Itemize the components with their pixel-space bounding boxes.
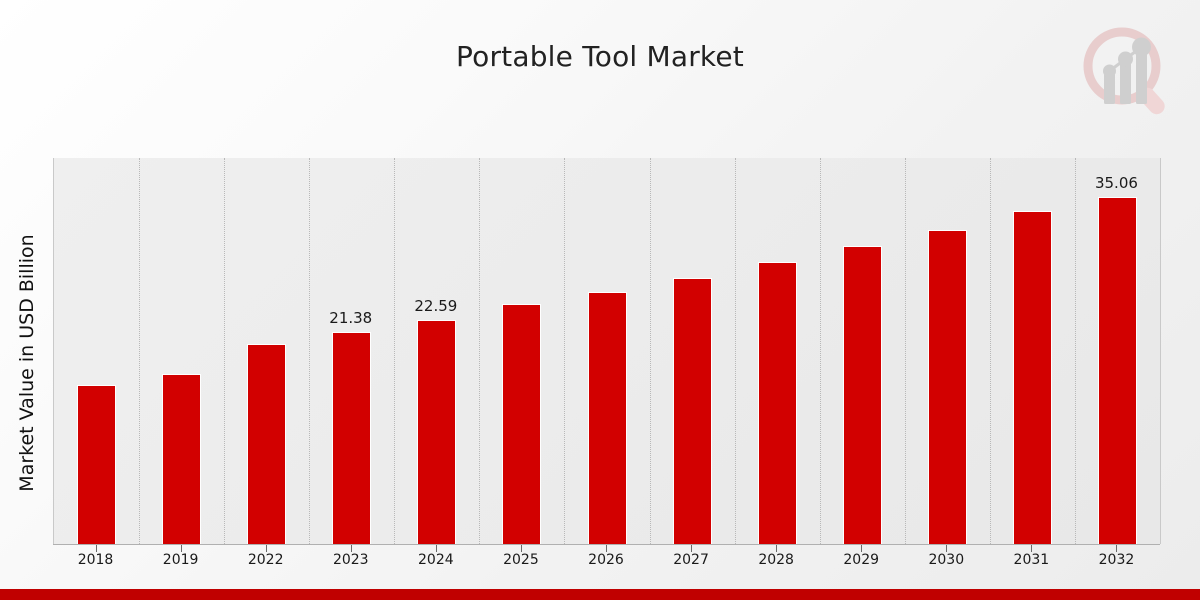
bar-2025[interactable] bbox=[502, 304, 541, 544]
x-tick-mark-2030 bbox=[946, 545, 947, 552]
x-tick-mark-2022 bbox=[266, 545, 267, 552]
bar-2022[interactable] bbox=[247, 344, 286, 544]
x-tick-mark-2027 bbox=[691, 545, 692, 552]
gridline bbox=[564, 158, 565, 544]
x-tick-label-2018: 2018 bbox=[56, 552, 136, 568]
bar-2030[interactable] bbox=[928, 230, 967, 544]
bar-2024[interactable] bbox=[417, 320, 456, 544]
x-tick-label-2026: 2026 bbox=[566, 552, 646, 568]
x-tick-mark-2018 bbox=[96, 545, 97, 552]
bar-2028[interactable] bbox=[758, 262, 797, 544]
magnifier-bar-chart-logo bbox=[1072, 22, 1180, 122]
gridline bbox=[394, 158, 395, 544]
bar-2018[interactable] bbox=[77, 385, 116, 544]
x-tick-label-2032: 2032 bbox=[1076, 552, 1156, 568]
bar-2029[interactable] bbox=[843, 246, 882, 544]
x-tick-mark-2029 bbox=[861, 545, 862, 552]
bar-2023[interactable] bbox=[332, 332, 371, 544]
bar-2031[interactable] bbox=[1013, 211, 1052, 544]
x-tick-label-2024: 2024 bbox=[396, 552, 476, 568]
x-tick-label-2027: 2027 bbox=[651, 552, 731, 568]
x-tick-mark-2019 bbox=[181, 545, 182, 552]
bar-value-label-2023: 21.38 bbox=[311, 309, 391, 327]
x-tick-mark-2026 bbox=[606, 545, 607, 552]
x-tick-label-2022: 2022 bbox=[226, 552, 306, 568]
gridline bbox=[309, 158, 310, 544]
x-tick-mark-2031 bbox=[1031, 545, 1032, 552]
gridline bbox=[820, 158, 821, 544]
x-tick-mark-2025 bbox=[521, 545, 522, 552]
x-tick-label-2031: 2031 bbox=[991, 552, 1071, 568]
x-tick-label-2029: 2029 bbox=[821, 552, 901, 568]
bar-value-label-2024: 22.59 bbox=[396, 297, 476, 315]
gridline bbox=[139, 158, 140, 544]
bar-2032[interactable] bbox=[1098, 197, 1137, 544]
x-tick-mark-2032 bbox=[1116, 545, 1117, 552]
gridline bbox=[650, 158, 651, 544]
gridline bbox=[990, 158, 991, 544]
bar-2027[interactable] bbox=[673, 278, 712, 544]
x-tick-mark-2023 bbox=[351, 545, 352, 552]
plot-area bbox=[53, 158, 1161, 544]
x-tick-mark-2024 bbox=[436, 545, 437, 552]
footer-band bbox=[0, 589, 1200, 600]
bar-value-label-2032: 35.06 bbox=[1076, 174, 1156, 192]
bar-2019[interactable] bbox=[162, 374, 201, 544]
x-tick-label-2019: 2019 bbox=[141, 552, 221, 568]
x-tick-mark-2028 bbox=[776, 545, 777, 552]
gridline bbox=[479, 158, 480, 544]
chart-page: Portable Tool Market Market Value in USD… bbox=[0, 0, 1200, 600]
page-title: Portable Tool Market bbox=[0, 40, 1200, 73]
gridline bbox=[224, 158, 225, 544]
bar-2026[interactable] bbox=[588, 292, 627, 544]
x-tick-label-2025: 2025 bbox=[481, 552, 561, 568]
gridline bbox=[905, 158, 906, 544]
x-tick-label-2023: 2023 bbox=[311, 552, 391, 568]
gridline bbox=[735, 158, 736, 544]
gridline bbox=[1075, 158, 1076, 544]
y-axis-title: Market Value in USD Billion bbox=[16, 168, 38, 558]
x-tick-label-2030: 2030 bbox=[906, 552, 986, 568]
x-tick-label-2028: 2028 bbox=[736, 552, 816, 568]
